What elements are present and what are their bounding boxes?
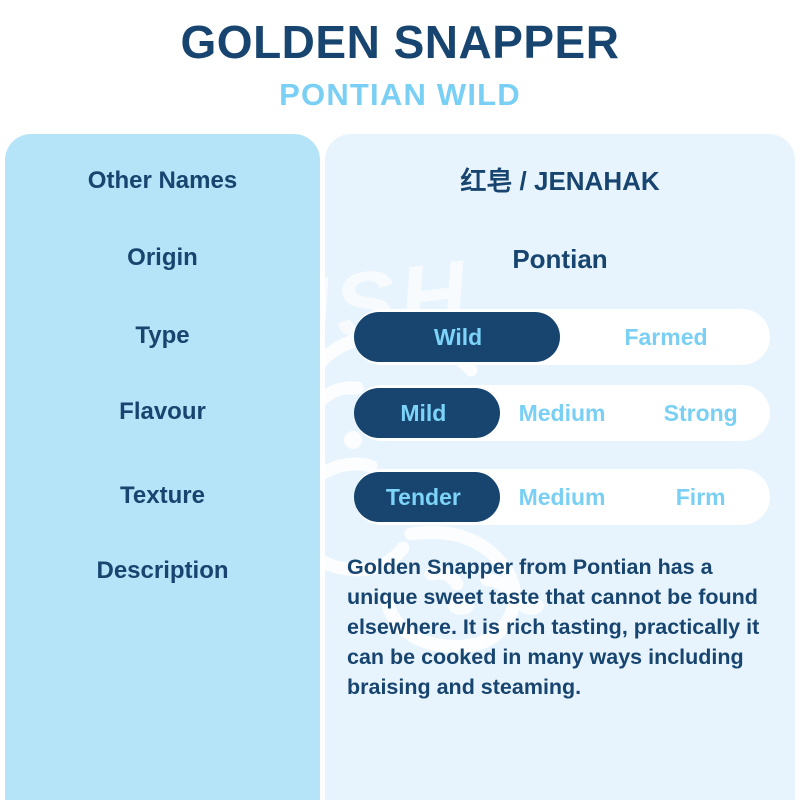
- flavour-option-strong[interactable]: Strong: [631, 385, 770, 441]
- type-option-wild[interactable]: Wild: [354, 309, 562, 365]
- flavour-option-mild[interactable]: Mild: [354, 385, 493, 441]
- page-subtitle: PONTIAN WILD: [0, 76, 800, 114]
- texture-option-medium[interactable]: Medium: [493, 469, 632, 525]
- type-segmented-control[interactable]: Wild Farmed: [354, 309, 770, 365]
- flavour-segmented-control[interactable]: Mild Medium Strong: [354, 385, 770, 441]
- row-label-origin: Origin: [5, 243, 320, 273]
- type-option-farmed[interactable]: Farmed: [562, 309, 770, 365]
- row-label-flavour: Flavour: [5, 397, 320, 427]
- row-label-type: Type: [5, 321, 320, 351]
- texture-option-firm[interactable]: Firm: [631, 469, 770, 525]
- card-header: GOLDEN SNAPPER PONTIAN WILD: [0, 0, 800, 128]
- row-value-description: Golden Snapper from Pontian has a unique…: [347, 552, 767, 702]
- page-title: GOLDEN SNAPPER: [0, 14, 800, 70]
- row-label-description: Description: [5, 556, 320, 586]
- row-label-texture: Texture: [5, 481, 320, 511]
- row-value-other-names: 红皂 / JENAHAK: [325, 164, 795, 198]
- texture-option-tender[interactable]: Tender: [354, 469, 493, 525]
- flavour-option-medium[interactable]: Medium: [493, 385, 632, 441]
- row-label-other-names: Other Names: [5, 166, 320, 196]
- fish-info-card: GOLDEN SNAPPER PONTIAN WILD FISH: [0, 0, 800, 800]
- texture-segmented-control[interactable]: Tender Medium Firm: [354, 469, 770, 525]
- row-value-origin: Pontian: [325, 242, 795, 276]
- label-panel: [5, 134, 320, 800]
